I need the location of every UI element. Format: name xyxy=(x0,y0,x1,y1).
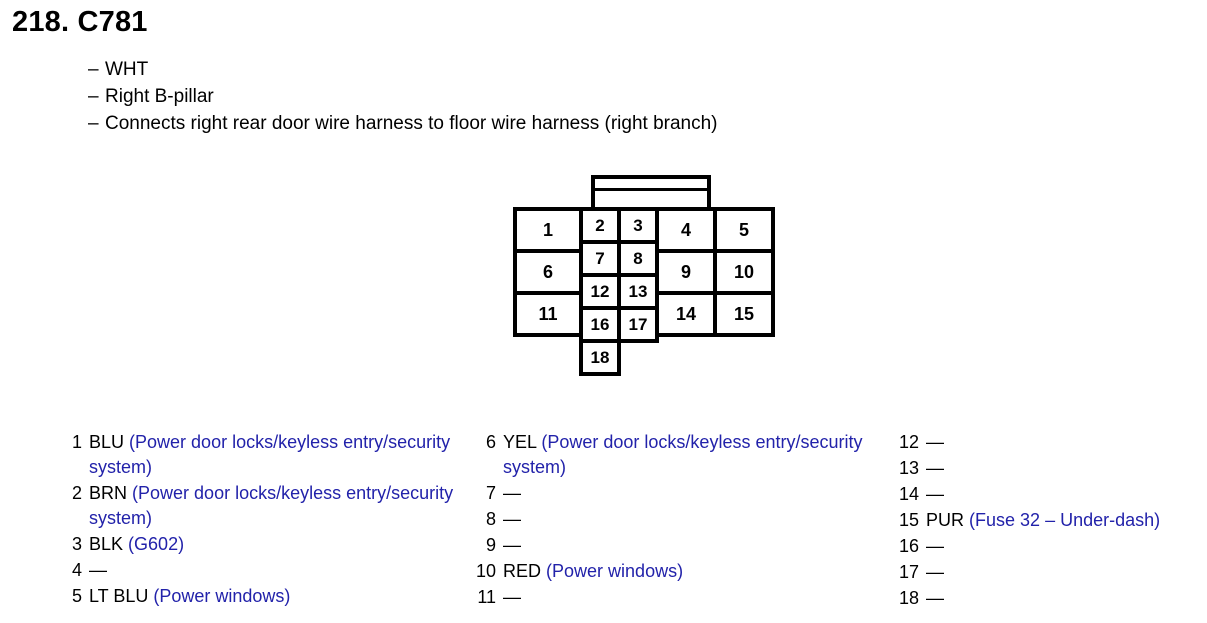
pin-circuit-name: (G602) xyxy=(128,534,184,554)
pin-assignment: — xyxy=(496,481,890,506)
pin-unused-dash: — xyxy=(926,536,944,556)
pin-assignment: — xyxy=(919,430,1207,455)
connector-latch-tab xyxy=(591,175,711,209)
pin-circuit-name: (Power door locks/keyless entry/security… xyxy=(89,483,453,528)
dash-bullet-icon: – xyxy=(88,110,105,137)
pin-list-row: 1BLU (Power door locks/keyless entry/sec… xyxy=(62,430,462,480)
pin-list-row: 6YEL (Power door locks/keyless entry/sec… xyxy=(470,430,890,480)
pin-number: 14 xyxy=(893,482,919,507)
pin-assignment: BLK (G602) xyxy=(82,532,462,557)
pin-list-row: 8— xyxy=(470,507,890,532)
pin-list-row: 17— xyxy=(893,560,1207,585)
pin-list-row: 16— xyxy=(893,534,1207,559)
pin-unused-dash: — xyxy=(926,484,944,504)
pin-assignment: — xyxy=(496,507,890,532)
description-line: –Right B-pillar xyxy=(88,83,718,110)
pin-assignment: YEL (Power door locks/keyless entry/secu… xyxy=(496,430,890,480)
pin-wire-color: LT BLU xyxy=(89,586,148,606)
pin-assignment: — xyxy=(919,456,1207,481)
connector-pin-11: 11 xyxy=(513,291,583,337)
pin-number: 8 xyxy=(470,507,496,532)
pin-wire-color: BLU xyxy=(89,432,124,452)
pin-list-row: 7— xyxy=(470,481,890,506)
pin-unused-dash: — xyxy=(503,509,521,529)
connector-pin-7: 7 xyxy=(579,240,621,277)
connector-description-list: –WHT–Right B-pillar–Connects right rear … xyxy=(88,56,718,137)
connector-pin-5: 5 xyxy=(713,207,775,253)
pin-list-row: 2BRN (Power door locks/keyless entry/sec… xyxy=(62,481,462,531)
pin-assignment: RED (Power windows) xyxy=(496,559,890,584)
connector-pin-14: 14 xyxy=(655,291,717,337)
pin-number: 16 xyxy=(893,534,919,559)
pin-number: 5 xyxy=(62,584,82,609)
connector-pin-18: 18 xyxy=(579,339,621,376)
connector-pin-2: 2 xyxy=(579,207,621,244)
pin-assignment: — xyxy=(919,534,1207,559)
pin-list-column-2: 6YEL (Power door locks/keyless entry/sec… xyxy=(470,430,890,611)
pin-unused-dash: — xyxy=(89,560,107,580)
pin-assignment: — xyxy=(496,585,890,610)
pin-number: 2 xyxy=(62,481,82,506)
pin-list-row: 10RED (Power windows) xyxy=(470,559,890,584)
connector-pin-1: 1 xyxy=(513,207,583,253)
pin-list-column-1: 1BLU (Power door locks/keyless entry/sec… xyxy=(62,430,462,610)
description-text: Connects right rear door wire harness to… xyxy=(105,113,718,134)
pin-unused-dash: — xyxy=(926,588,944,608)
pin-assignment: PUR (Fuse 32 – Under-dash) xyxy=(919,508,1207,533)
pin-assignment: — xyxy=(82,558,462,583)
connector-pin-15: 15 xyxy=(713,291,775,337)
pin-number: 3 xyxy=(62,532,82,557)
pin-assignment: — xyxy=(919,482,1207,507)
pin-circuit-name: (Power windows) xyxy=(153,586,290,606)
pin-circuit-name: (Power windows) xyxy=(546,561,683,581)
pin-circuit-name: (Fuse 32 – Under-dash) xyxy=(969,510,1160,530)
pin-number: 11 xyxy=(470,585,496,610)
dash-bullet-icon: – xyxy=(88,83,105,110)
page-title: 218. C781 xyxy=(12,6,148,39)
description-line: –Connects right rear door wire harness t… xyxy=(88,110,718,137)
pin-list-column-3: 12—13—14—15PUR (Fuse 32 – Under-dash)16—… xyxy=(893,430,1207,612)
pin-wire-color: PUR xyxy=(926,510,964,530)
connector-latch-inner-line xyxy=(595,188,707,191)
pin-list-row: 11— xyxy=(470,585,890,610)
pin-list-row: 18— xyxy=(893,586,1207,611)
connector-pin-13: 13 xyxy=(617,273,659,310)
pin-wire-color: YEL xyxy=(503,432,536,452)
pin-list-row: 15PUR (Fuse 32 – Under-dash) xyxy=(893,508,1207,533)
pin-number: 7 xyxy=(470,481,496,506)
pin-assignment: BRN (Power door locks/keyless entry/secu… xyxy=(82,481,462,531)
connector-pin-4: 4 xyxy=(655,207,717,253)
pin-unused-dash: — xyxy=(926,458,944,478)
pin-list-row: 3BLK (G602) xyxy=(62,532,462,557)
pin-number: 10 xyxy=(470,559,496,584)
description-text: Right B-pillar xyxy=(105,86,214,107)
pin-unused-dash: — xyxy=(926,562,944,582)
pin-number: 9 xyxy=(470,533,496,558)
pin-assignment-list: 1BLU (Power door locks/keyless entry/sec… xyxy=(0,430,1207,623)
pin-unused-dash: — xyxy=(503,535,521,555)
connector-pin-17: 17 xyxy=(617,306,659,343)
pin-circuit-name: (Power door locks/keyless entry/security… xyxy=(503,432,862,477)
pin-number: 6 xyxy=(470,430,496,455)
pin-unused-dash: — xyxy=(926,432,944,452)
pin-number: 1 xyxy=(62,430,82,455)
connector-pin-16: 16 xyxy=(579,306,621,343)
connector-pin-12: 12 xyxy=(579,273,621,310)
description-line: –WHT xyxy=(88,56,718,83)
pin-list-row: 14— xyxy=(893,482,1207,507)
pin-assignment: — xyxy=(919,560,1207,585)
pin-list-row: 13— xyxy=(893,456,1207,481)
pin-list-row: 9— xyxy=(470,533,890,558)
pin-number: 13 xyxy=(893,456,919,481)
pin-unused-dash: — xyxy=(503,483,521,503)
pin-list-row: 4— xyxy=(62,558,462,583)
connector-pin-10: 10 xyxy=(713,249,775,295)
pin-number: 18 xyxy=(893,586,919,611)
dash-bullet-icon: – xyxy=(88,56,105,83)
pin-number: 17 xyxy=(893,560,919,585)
pin-wire-color: RED xyxy=(503,561,541,581)
connector-pinout-diagram: 123456789101112131415161718 xyxy=(505,170,795,405)
pin-unused-dash: — xyxy=(503,587,521,607)
pin-number: 4 xyxy=(62,558,82,583)
pin-assignment: — xyxy=(919,586,1207,611)
description-text: WHT xyxy=(105,59,148,80)
pin-number: 15 xyxy=(893,508,919,533)
pin-assignment: — xyxy=(496,533,890,558)
connector-pin-9: 9 xyxy=(655,249,717,295)
connector-pin-3: 3 xyxy=(617,207,659,244)
pin-list-row: 12— xyxy=(893,430,1207,455)
pin-assignment: LT BLU (Power windows) xyxy=(82,584,462,609)
pin-list-row: 5LT BLU (Power windows) xyxy=(62,584,462,609)
pin-number: 12 xyxy=(893,430,919,455)
connector-pin-6: 6 xyxy=(513,249,583,295)
pin-wire-color: BRN xyxy=(89,483,127,503)
pin-wire-color: BLK xyxy=(89,534,123,554)
pin-circuit-name: (Power door locks/keyless entry/security… xyxy=(89,432,450,477)
pin-assignment: BLU (Power door locks/keyless entry/secu… xyxy=(82,430,462,480)
connector-pin-8: 8 xyxy=(617,240,659,277)
